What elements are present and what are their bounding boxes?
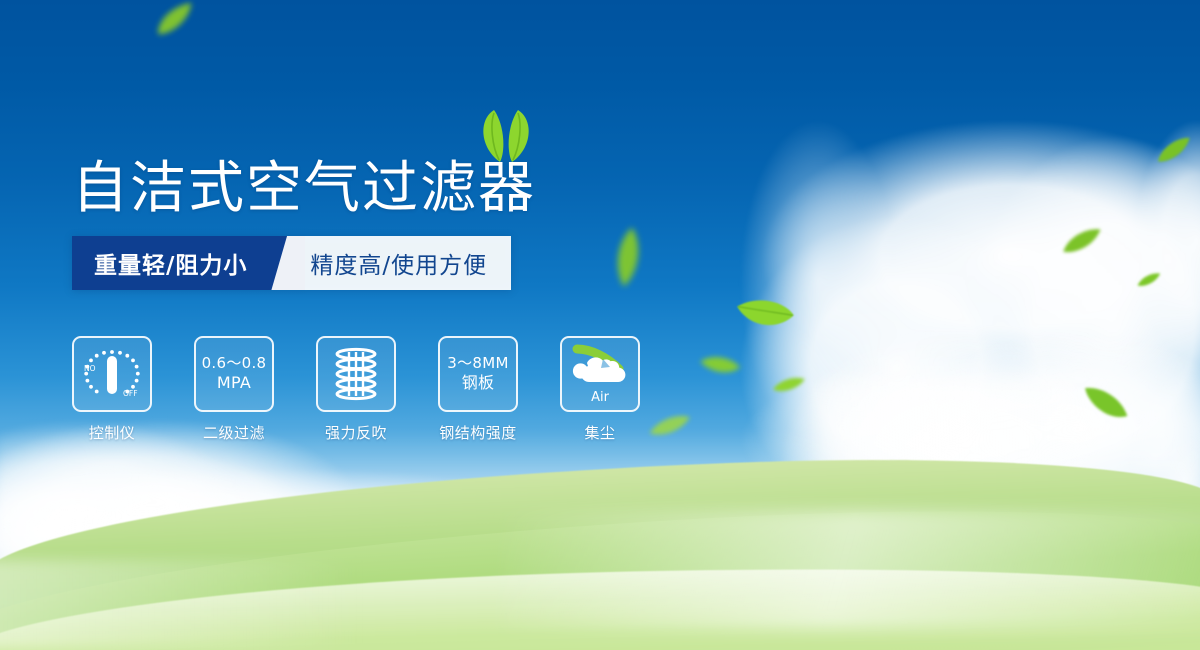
subtitle-right: 精度高/使用方便 bbox=[304, 236, 511, 290]
feature-item[interactable]: Air 集尘 bbox=[560, 336, 640, 443]
subtitle-divider-wedge bbox=[271, 236, 305, 290]
feature-list: NO OFF 控制仪 0.6～0.8 MPA 二级过滤 bbox=[72, 336, 640, 443]
feature-item[interactable]: 0.6～0.8 MPA 二级过滤 bbox=[194, 336, 274, 443]
pressure-unit: MPA bbox=[202, 373, 267, 393]
dial-off-label: OFF bbox=[123, 389, 138, 398]
pressure-value-icon: 0.6～0.8 MPA bbox=[202, 354, 267, 394]
feature-icon-box: Air bbox=[560, 336, 640, 412]
gauge-dial-icon: NO OFF bbox=[79, 344, 145, 404]
banner-content: 自洁式空气过滤器 重量轻/阻力小 精度高/使用方便 bbox=[0, 0, 1200, 650]
cloud-air-icon: Air bbox=[563, 339, 637, 409]
filter-coil-icon bbox=[327, 345, 385, 403]
feature-item[interactable]: 3～8MM 钢板 钢结构强度 bbox=[438, 336, 518, 443]
product-banner: 自洁式空气过滤器 重量轻/阻力小 精度高/使用方便 bbox=[0, 0, 1200, 650]
feature-label: 二级过滤 bbox=[203, 422, 265, 443]
steel-material: 钢板 bbox=[447, 373, 508, 393]
steel-plate-icon: 3～8MM 钢板 bbox=[447, 354, 508, 394]
feature-icon-box bbox=[316, 336, 396, 412]
feature-icon-box: NO OFF bbox=[72, 336, 152, 412]
subtitle-bar: 重量轻/阻力小 精度高/使用方便 bbox=[72, 236, 511, 290]
pressure-range: 0.6～0.8 bbox=[202, 354, 267, 373]
feature-label: 集尘 bbox=[584, 422, 615, 443]
feature-item[interactable]: 强力反吹 bbox=[316, 336, 396, 443]
feature-label: 控制仪 bbox=[89, 422, 136, 443]
steel-thickness: 3～8MM bbox=[447, 354, 508, 373]
feature-icon-box: 0.6～0.8 MPA bbox=[194, 336, 274, 412]
feature-label: 强力反吹 bbox=[325, 422, 387, 443]
feature-icon-box: 3～8MM 钢板 bbox=[438, 336, 518, 412]
dial-on-label: NO bbox=[84, 364, 96, 373]
feature-label: 钢结构强度 bbox=[439, 422, 517, 443]
subtitle-left: 重量轻/阻力小 bbox=[72, 236, 273, 290]
feature-item[interactable]: NO OFF 控制仪 bbox=[72, 336, 152, 443]
air-label: Air bbox=[591, 390, 610, 405]
page-title: 自洁式空气过滤器 bbox=[72, 143, 536, 224]
